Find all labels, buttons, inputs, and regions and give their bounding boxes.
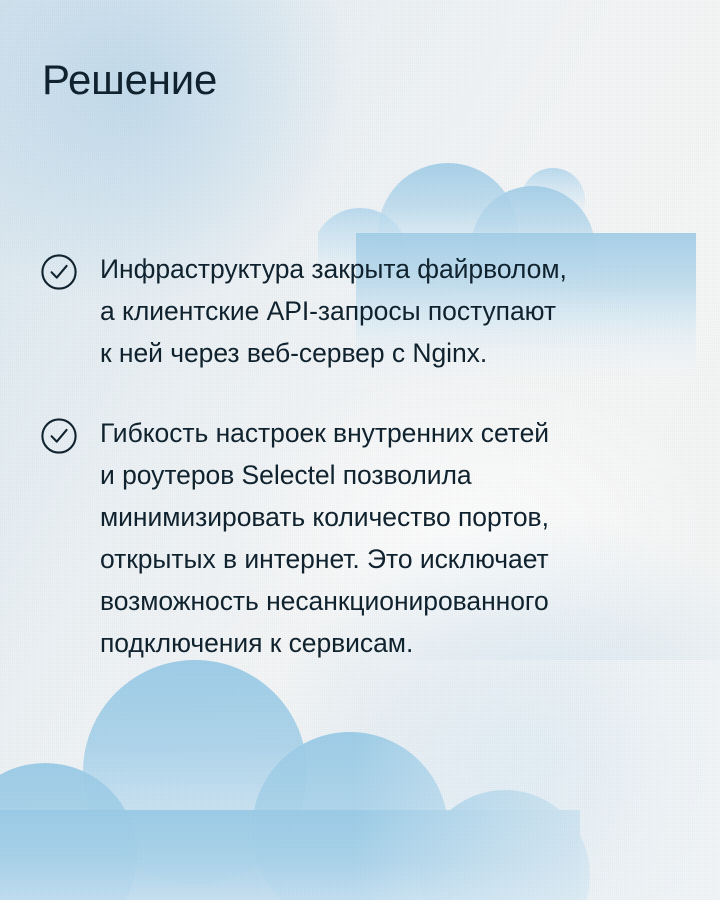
slide-canvas: Решение Инфраструктура закрыта файрволом… xyxy=(0,0,720,900)
bullet-list: Инфраструктура закрыта файрволом, а клие… xyxy=(40,248,640,664)
list-item-text: Гибкость настроек внутренних сетей и роу… xyxy=(100,412,549,664)
list-item: Гибкость настроек внутренних сетей и роу… xyxy=(40,412,640,664)
list-item: Инфраструктура закрыта файрволом, а клие… xyxy=(40,248,640,374)
check-circle-icon xyxy=(40,417,78,455)
page-title: Решение xyxy=(42,55,217,105)
list-item-text: Инфраструктура закрыта файрволом, а клие… xyxy=(100,248,567,374)
check-circle-icon xyxy=(40,253,78,291)
